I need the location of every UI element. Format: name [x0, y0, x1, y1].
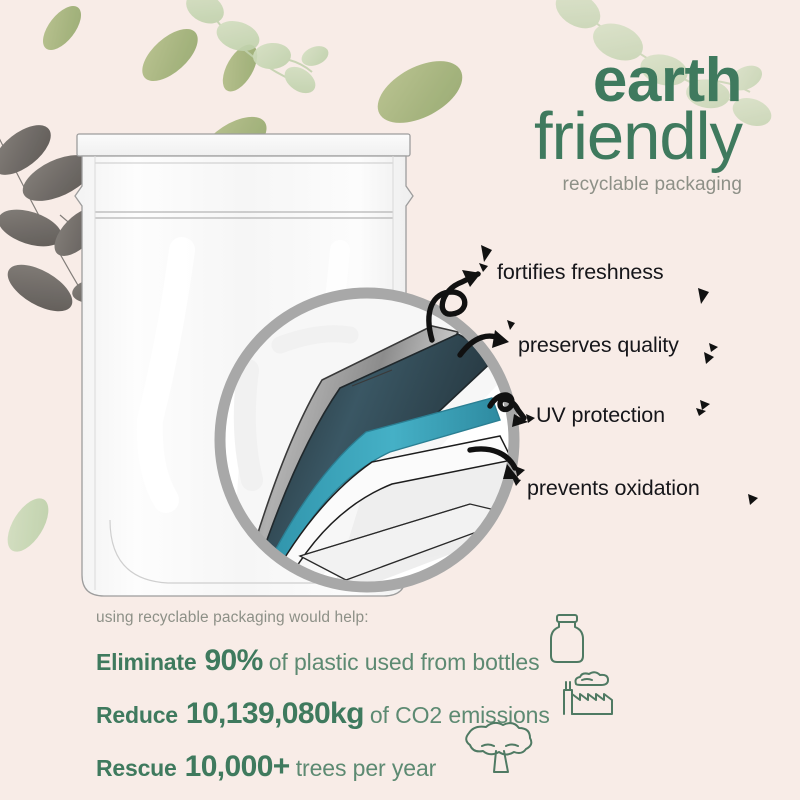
stat-tail: trees per year	[296, 755, 437, 782]
stat-verb: Rescue	[96, 755, 177, 782]
stats-intro-text: using recyclable packaging would help:	[96, 609, 736, 627]
stat-figure: 90%	[204, 644, 262, 678]
feature-label-prevents-oxidation: prevents oxidation	[527, 476, 700, 501]
headline-block: earth friendly recyclable packaging	[534, 52, 742, 194]
bottle-icon	[545, 612, 589, 666]
stat-verb: Reduce	[96, 702, 178, 729]
stat-row-reduce: Reduce 10,139,080kg of CO2 emissions	[96, 697, 736, 731]
headline-line-friendly: friendly	[534, 106, 742, 169]
tree-icon	[458, 718, 540, 780]
headline-subtitle: recyclable packaging	[534, 176, 742, 194]
feature-label-fortifies-freshness: fortifies freshness	[497, 260, 664, 285]
stat-verb: Eliminate	[96, 649, 196, 676]
feature-label-preserves-quality: preserves quality	[518, 333, 679, 358]
stat-row-eliminate: Eliminate 90% of plastic used from bottl…	[96, 644, 736, 678]
stat-figure: 10,000+	[185, 750, 290, 784]
factory-icon	[560, 668, 618, 718]
stat-row-rescue: Rescue 10,000+ trees per year	[96, 750, 736, 784]
feature-label-uv-protection: UV protection	[536, 403, 665, 428]
earth-friendly-poster: earth friendly recyclable packaging fort…	[0, 0, 800, 800]
stat-tail: of plastic used from bottles	[269, 649, 540, 676]
stat-figure: 10,139,080kg	[186, 697, 364, 731]
impact-stats-block: using recyclable packaging would help: E…	[96, 609, 736, 800]
